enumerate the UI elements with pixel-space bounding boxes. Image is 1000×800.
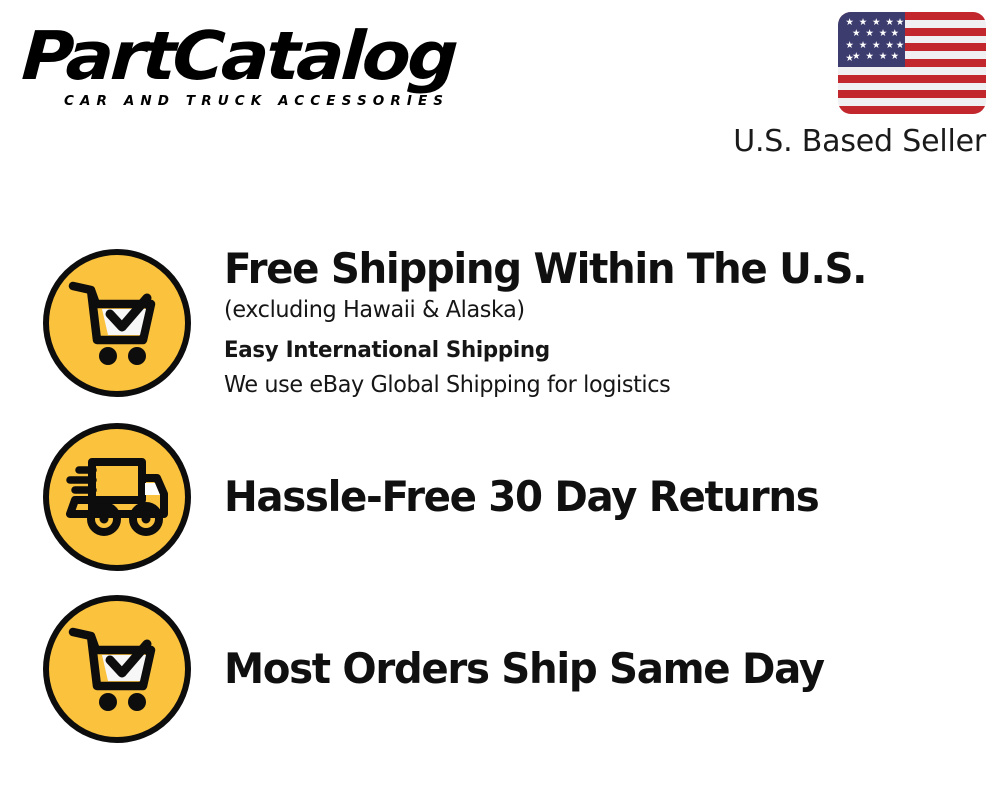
- brand-wordmark: PartCatalog: [20, 20, 522, 92]
- us-based-seller-label: U.S. Based Seller: [716, 125, 986, 159]
- us-based-seller-badge: ★ ★ ★ ★ ★ ★ ★ ★ ★ ★ ★ ★ ★ ★ ★ ★ ★ ★ ★ U.…: [716, 12, 986, 159]
- shopping-cart-check-icon: [43, 595, 191, 743]
- delivery-truck-icon: [43, 423, 191, 571]
- page-header: PartCatalog CAR AND TRUCK ACCESSORIES ★ …: [0, 0, 1000, 175]
- feature-title: Most Orders Ship Same Day: [224, 644, 969, 694]
- feature-title: Hassle-Free 30 Day Returns: [224, 472, 969, 522]
- shopping-cart-check-icon: [43, 249, 191, 397]
- feature-text: Hassle-Free 30 Day Returns: [191, 472, 1000, 522]
- feature-subtitle-bold: Easy International Shipping: [224, 333, 977, 369]
- feature-row: Most Orders Ship Same Day: [0, 583, 1000, 755]
- feature-title: Free Shipping Within The U.S.: [224, 244, 969, 294]
- feature-row: Hassle-Free 30 Day Returns: [0, 411, 1000, 583]
- partcatalog-logo[interactable]: PartCatalog CAR AND TRUCK ACCESSORIES: [22, 20, 492, 109]
- feature-subtitle-detail: We use eBay Global Shipping for logistic…: [224, 369, 977, 402]
- feature-subtitle: (excluding Hawaii & Alaska): [224, 294, 977, 327]
- us-flag-icon: ★ ★ ★ ★ ★ ★ ★ ★ ★ ★ ★ ★ ★ ★ ★ ★ ★ ★ ★: [838, 12, 986, 114]
- feature-text: Free Shipping Within The U.S. (excluding…: [191, 244, 1000, 402]
- feature-text: Most Orders Ship Same Day: [191, 644, 1000, 694]
- brand-tagline: CAR AND TRUCK ACCESSORIES: [64, 93, 492, 109]
- feature-row: Free Shipping Within The U.S. (excluding…: [0, 235, 1000, 410]
